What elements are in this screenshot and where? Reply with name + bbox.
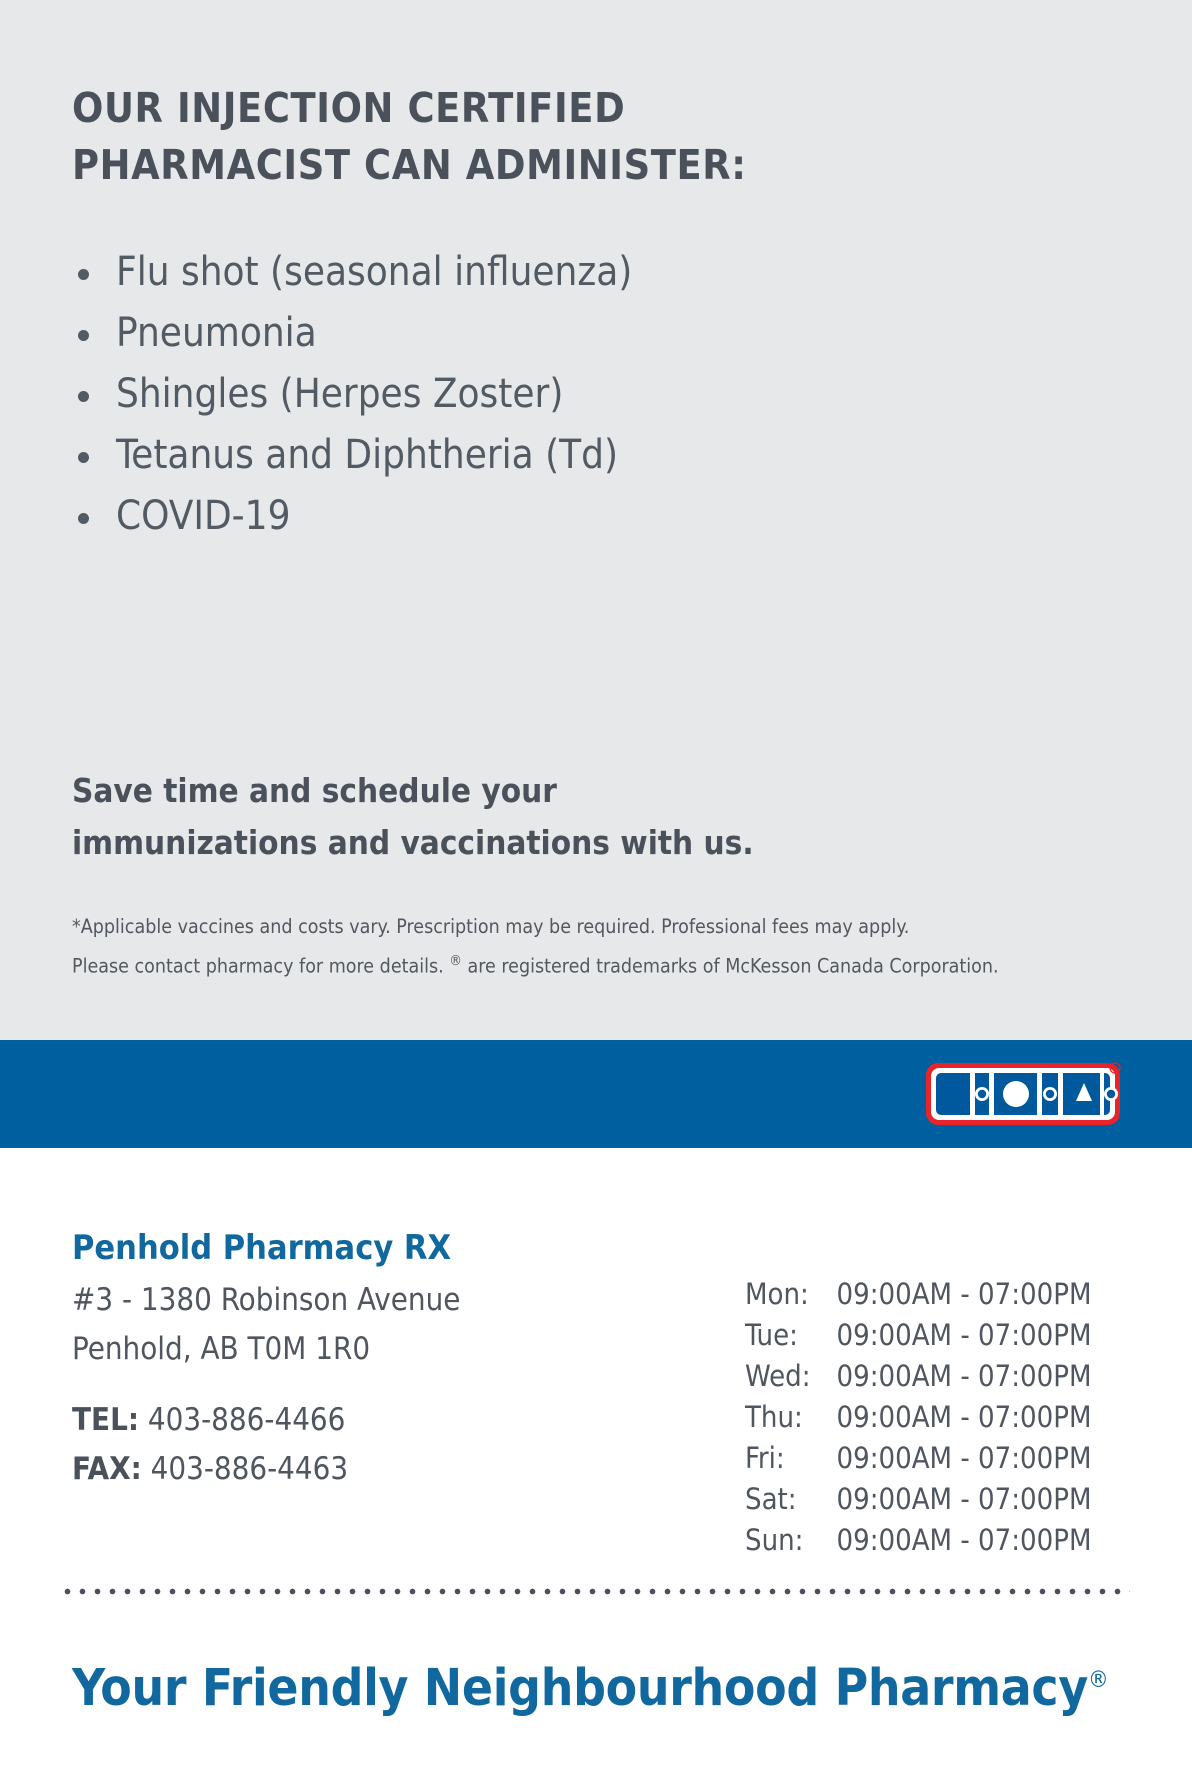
list-item-label: Tetanus and Diphtheria (Td) [116,432,618,478]
hours-time: 09:00AM - 07:00PM [837,1438,1092,1479]
schedule-callout-line-1: Save time and schedule your [72,765,892,817]
registered-mark-icon: ® [1088,1667,1109,1693]
list-item: Tetanus and Diphtheria (Td) [72,425,972,486]
disclaimer-line-2-text-b: are registered trademarks of McKesson Ca… [462,955,999,978]
hours-day: Sun: [745,1520,837,1561]
ida-logo: R [924,1057,1124,1133]
vaccine-list: Flu shot (seasonal influenza) Pneumonia … [72,242,972,547]
table-row: Sun: 09:00AM - 07:00PM [745,1520,1091,1561]
bullet-dot-icon [78,269,89,280]
store-hours-table: Mon: 09:00AM - 07:00PM Tue: 09:00AM - 07… [745,1274,1091,1561]
telephone-row: TEL: 403-886-4466 [72,1396,692,1445]
registered-mark-icon: ® [449,953,462,969]
store-phone-block: TEL: 403-886-4466 FAX: 403-886-4463 [72,1396,692,1494]
asterisk-mark: * [72,915,81,938]
brand-band: R [0,1040,1192,1148]
table-row: Tue: 09:00AM - 07:00PM [745,1315,1091,1356]
fax-value: 403-886-4463 [151,1451,349,1487]
disclaimer-line-1-text: Applicable vaccines and costs vary. Pres… [81,915,910,938]
table-row: Sat: 09:00AM - 07:00PM [745,1479,1091,1520]
brand-tagline-text: Your Friendly Neighbourhood Pharmacy [72,1659,1088,1718]
schedule-callout: Save time and schedule your immunization… [72,765,892,869]
store-name: Penhold Pharmacy RX [72,1226,692,1270]
page-title-line-1: OUR INJECTION CERTIFIED [72,80,912,137]
list-item-label: Shingles (Herpes Zoster) [116,371,563,417]
disclaimer-line-2-text-a: Please contact pharmacy for more details… [72,955,449,978]
hours-day: Wed: [745,1356,837,1397]
hours-day: Sat: [745,1479,837,1520]
list-item-label: Pneumonia [116,310,317,356]
disclaimer-line-1: *Applicable vaccines and costs vary. Pre… [72,910,1122,944]
list-item-label: Flu shot (seasonal influenza) [116,249,632,295]
dotted-divider [60,1587,1130,1596]
bullet-dot-icon [78,330,89,341]
store-address: #3 - 1380 Robinson Avenue Penhold, AB T0… [72,1276,692,1374]
hours-time: 09:00AM - 07:00PM [837,1315,1092,1356]
store-address-line-2: Penhold, AB T0M 1R0 [72,1325,692,1374]
page-title: OUR INJECTION CERTIFIED PHARMACIST CAN A… [72,80,912,193]
fax-label: FAX: [72,1451,142,1487]
list-item: Flu shot (seasonal influenza) [72,242,972,303]
hours-time: 09:00AM - 07:00PM [837,1356,1092,1397]
brand-tagline: Your Friendly Neighbourhood Pharmacy® [72,1637,1109,1732]
list-item: Pneumonia [72,303,972,364]
hours-day: Thu: [745,1397,837,1438]
disclaimer-line-2: Please contact pharmacy for more details… [72,944,1122,984]
hours-time: 09:00AM - 07:00PM [837,1520,1092,1561]
immunization-info-panel: OUR INJECTION CERTIFIED PHARMACIST CAN A… [0,0,1192,1040]
list-item-label: COVID-19 [116,493,290,539]
store-contact-block: Penhold Pharmacy RX #3 - 1380 Robinson A… [72,1226,692,1494]
store-address-line-1: #3 - 1380 Robinson Avenue [72,1276,692,1325]
fax-row: FAX: 403-886-4463 [72,1445,692,1494]
schedule-callout-line-2: immunizations and vaccinations with us. [72,817,892,869]
hours-time: 09:00AM - 07:00PM [837,1397,1092,1438]
table-row: Wed: 09:00AM - 07:00PM [745,1356,1091,1397]
bullet-dot-icon [78,513,89,524]
hours-day: Tue: [745,1315,837,1356]
list-item: Shingles (Herpes Zoster) [72,364,972,425]
ida-registered-icon: R [1110,1063,1120,1073]
bullet-dot-icon [78,391,89,402]
telephone-label: TEL: [72,1402,139,1438]
table-row: Fri: 09:00AM - 07:00PM [745,1438,1091,1479]
hours-day: Mon: [745,1274,837,1315]
hours-time: 09:00AM - 07:00PM [837,1479,1092,1520]
table-row: Thu: 09:00AM - 07:00PM [745,1397,1091,1438]
hours-day: Fri: [745,1438,837,1479]
hours-time: 09:00AM - 07:00PM [837,1274,1092,1315]
telephone-value[interactable]: 403-886-4466 [148,1402,346,1438]
bullet-dot-icon [78,452,89,463]
page-title-line-2: PHARMACIST CAN ADMINISTER: [72,137,912,194]
svg-text:R: R [1112,1066,1117,1073]
table-row: Mon: 09:00AM - 07:00PM [745,1274,1091,1315]
list-item: COVID-19 [72,486,972,547]
disclaimer: *Applicable vaccines and costs vary. Pre… [72,910,1122,984]
